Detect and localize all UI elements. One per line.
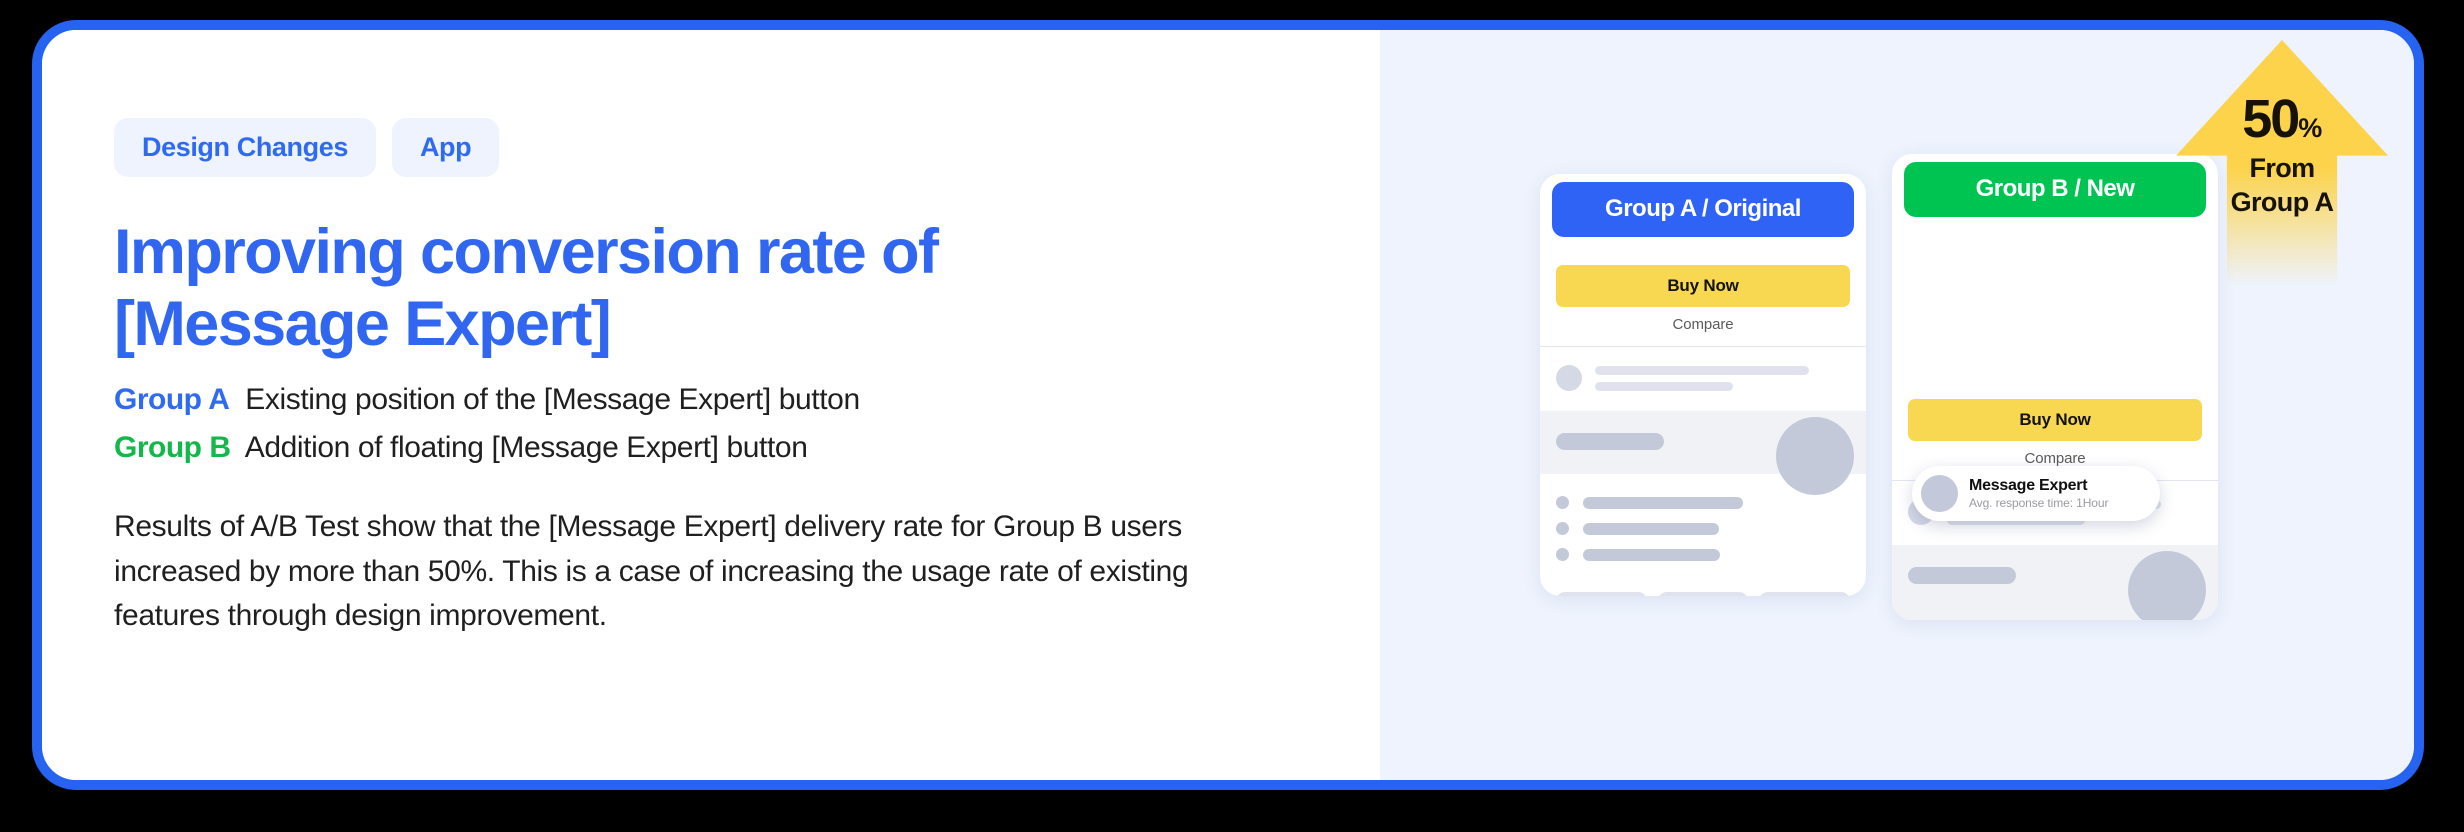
- group-a-label: Group A: [114, 383, 229, 416]
- skeleton-user-row-a: [1540, 347, 1866, 411]
- arrow-caption-line-1: From: [2249, 154, 2314, 184]
- summary-paragraph: Results of A/B Test show that the [Messa…: [114, 505, 1234, 637]
- skeleton-bar: [1583, 549, 1720, 561]
- page-title: Improving conversion rate of [Message Ex…: [114, 217, 1164, 361]
- list-item: [1556, 496, 1850, 509]
- mockup-panel: Group A / Original Buy Now Compare: [1380, 30, 2414, 780]
- compare-link-a[interactable]: Compare: [1556, 307, 1850, 346]
- left-content-panel: Design Changes App Improving conversion …: [42, 30, 1380, 780]
- skeleton-bar: [1595, 366, 1809, 375]
- group-b-label: Group B: [114, 431, 231, 464]
- presentation-card: Design Changes App Improving conversion …: [32, 20, 2424, 790]
- skeleton-banner-a: [1540, 411, 1866, 474]
- arrow-percent-value: 50: [2242, 92, 2298, 146]
- phone-mockup-group-a: Group A / Original Buy Now Compare: [1540, 174, 1866, 596]
- skeleton-thumbnails-a: [1540, 580, 1866, 596]
- skeleton-pill: [1908, 567, 2016, 584]
- bullet-dot-icon: [1556, 548, 1569, 561]
- arrow-percent-row: 50 %: [2242, 92, 2322, 146]
- expert-subtitle: Avg. response time: 1Hour: [1969, 496, 2108, 510]
- skeleton-lines: [1595, 366, 1850, 391]
- tag-design-changes[interactable]: Design Changes: [114, 118, 376, 177]
- list-item: [1556, 522, 1850, 535]
- uplift-arrow-badge: 50 % From Group A: [2176, 40, 2388, 286]
- avatar-placeholder-icon: [1556, 365, 1582, 391]
- group-a-badge: Group A / Original: [1552, 182, 1854, 237]
- group-b-badge: Group B / New: [1904, 162, 2206, 217]
- arrow-caption-line-2: Group A: [2231, 188, 2334, 218]
- group-a-row: Group A Existing position of the [Messag…: [114, 381, 1380, 419]
- bullet-dot-icon: [1556, 496, 1569, 509]
- tag-app[interactable]: App: [392, 118, 499, 177]
- skeleton-circle: [2128, 551, 2206, 620]
- phone-mockup-group-b: Group B / New Buy Now Compare: [1892, 154, 2218, 620]
- skeleton-bar: [1583, 497, 1743, 509]
- buy-now-button-b[interactable]: Buy Now: [1908, 399, 2202, 441]
- group-a-description: Existing position of the [Message Expert…: [245, 383, 860, 416]
- card-a-cta-section: Buy Now Compare: [1540, 237, 1866, 346]
- arrow-percent-symbol: %: [2298, 113, 2322, 144]
- list-item: [1556, 548, 1850, 561]
- expert-text-block: Message Expert Avg. response time: 1Hour: [1969, 477, 2108, 511]
- thumbnail-placeholder: [1556, 592, 1647, 596]
- tag-row: Design Changes App: [114, 118, 1380, 177]
- thumbnail-placeholder: [1658, 592, 1749, 596]
- skeleton-circle: [1776, 417, 1854, 495]
- skeleton-pill: [1556, 433, 1664, 450]
- bullet-dot-icon: [1556, 522, 1569, 535]
- expert-title: Message Expert: [1969, 477, 2108, 495]
- skeleton-banner-b: [1892, 545, 2218, 620]
- floating-message-expert-button[interactable]: Message Expert Avg. response time: 1Hour: [1912, 466, 2160, 521]
- group-b-description: Addition of floating [Message Expert] bu…: [245, 431, 808, 464]
- buy-now-button-a[interactable]: Buy Now: [1556, 265, 1850, 307]
- skeleton-bar: [1595, 382, 1733, 391]
- group-b-row: Group B Addition of floating [Message Ex…: [114, 429, 1380, 467]
- thumbnail-placeholder: [1759, 592, 1850, 596]
- skeleton-bar: [1583, 523, 1719, 535]
- expert-avatar-icon: [1921, 475, 1958, 512]
- arrow-badge-text: 50 % From Group A: [2176, 40, 2388, 286]
- card-b-spacer: [1892, 217, 2218, 385]
